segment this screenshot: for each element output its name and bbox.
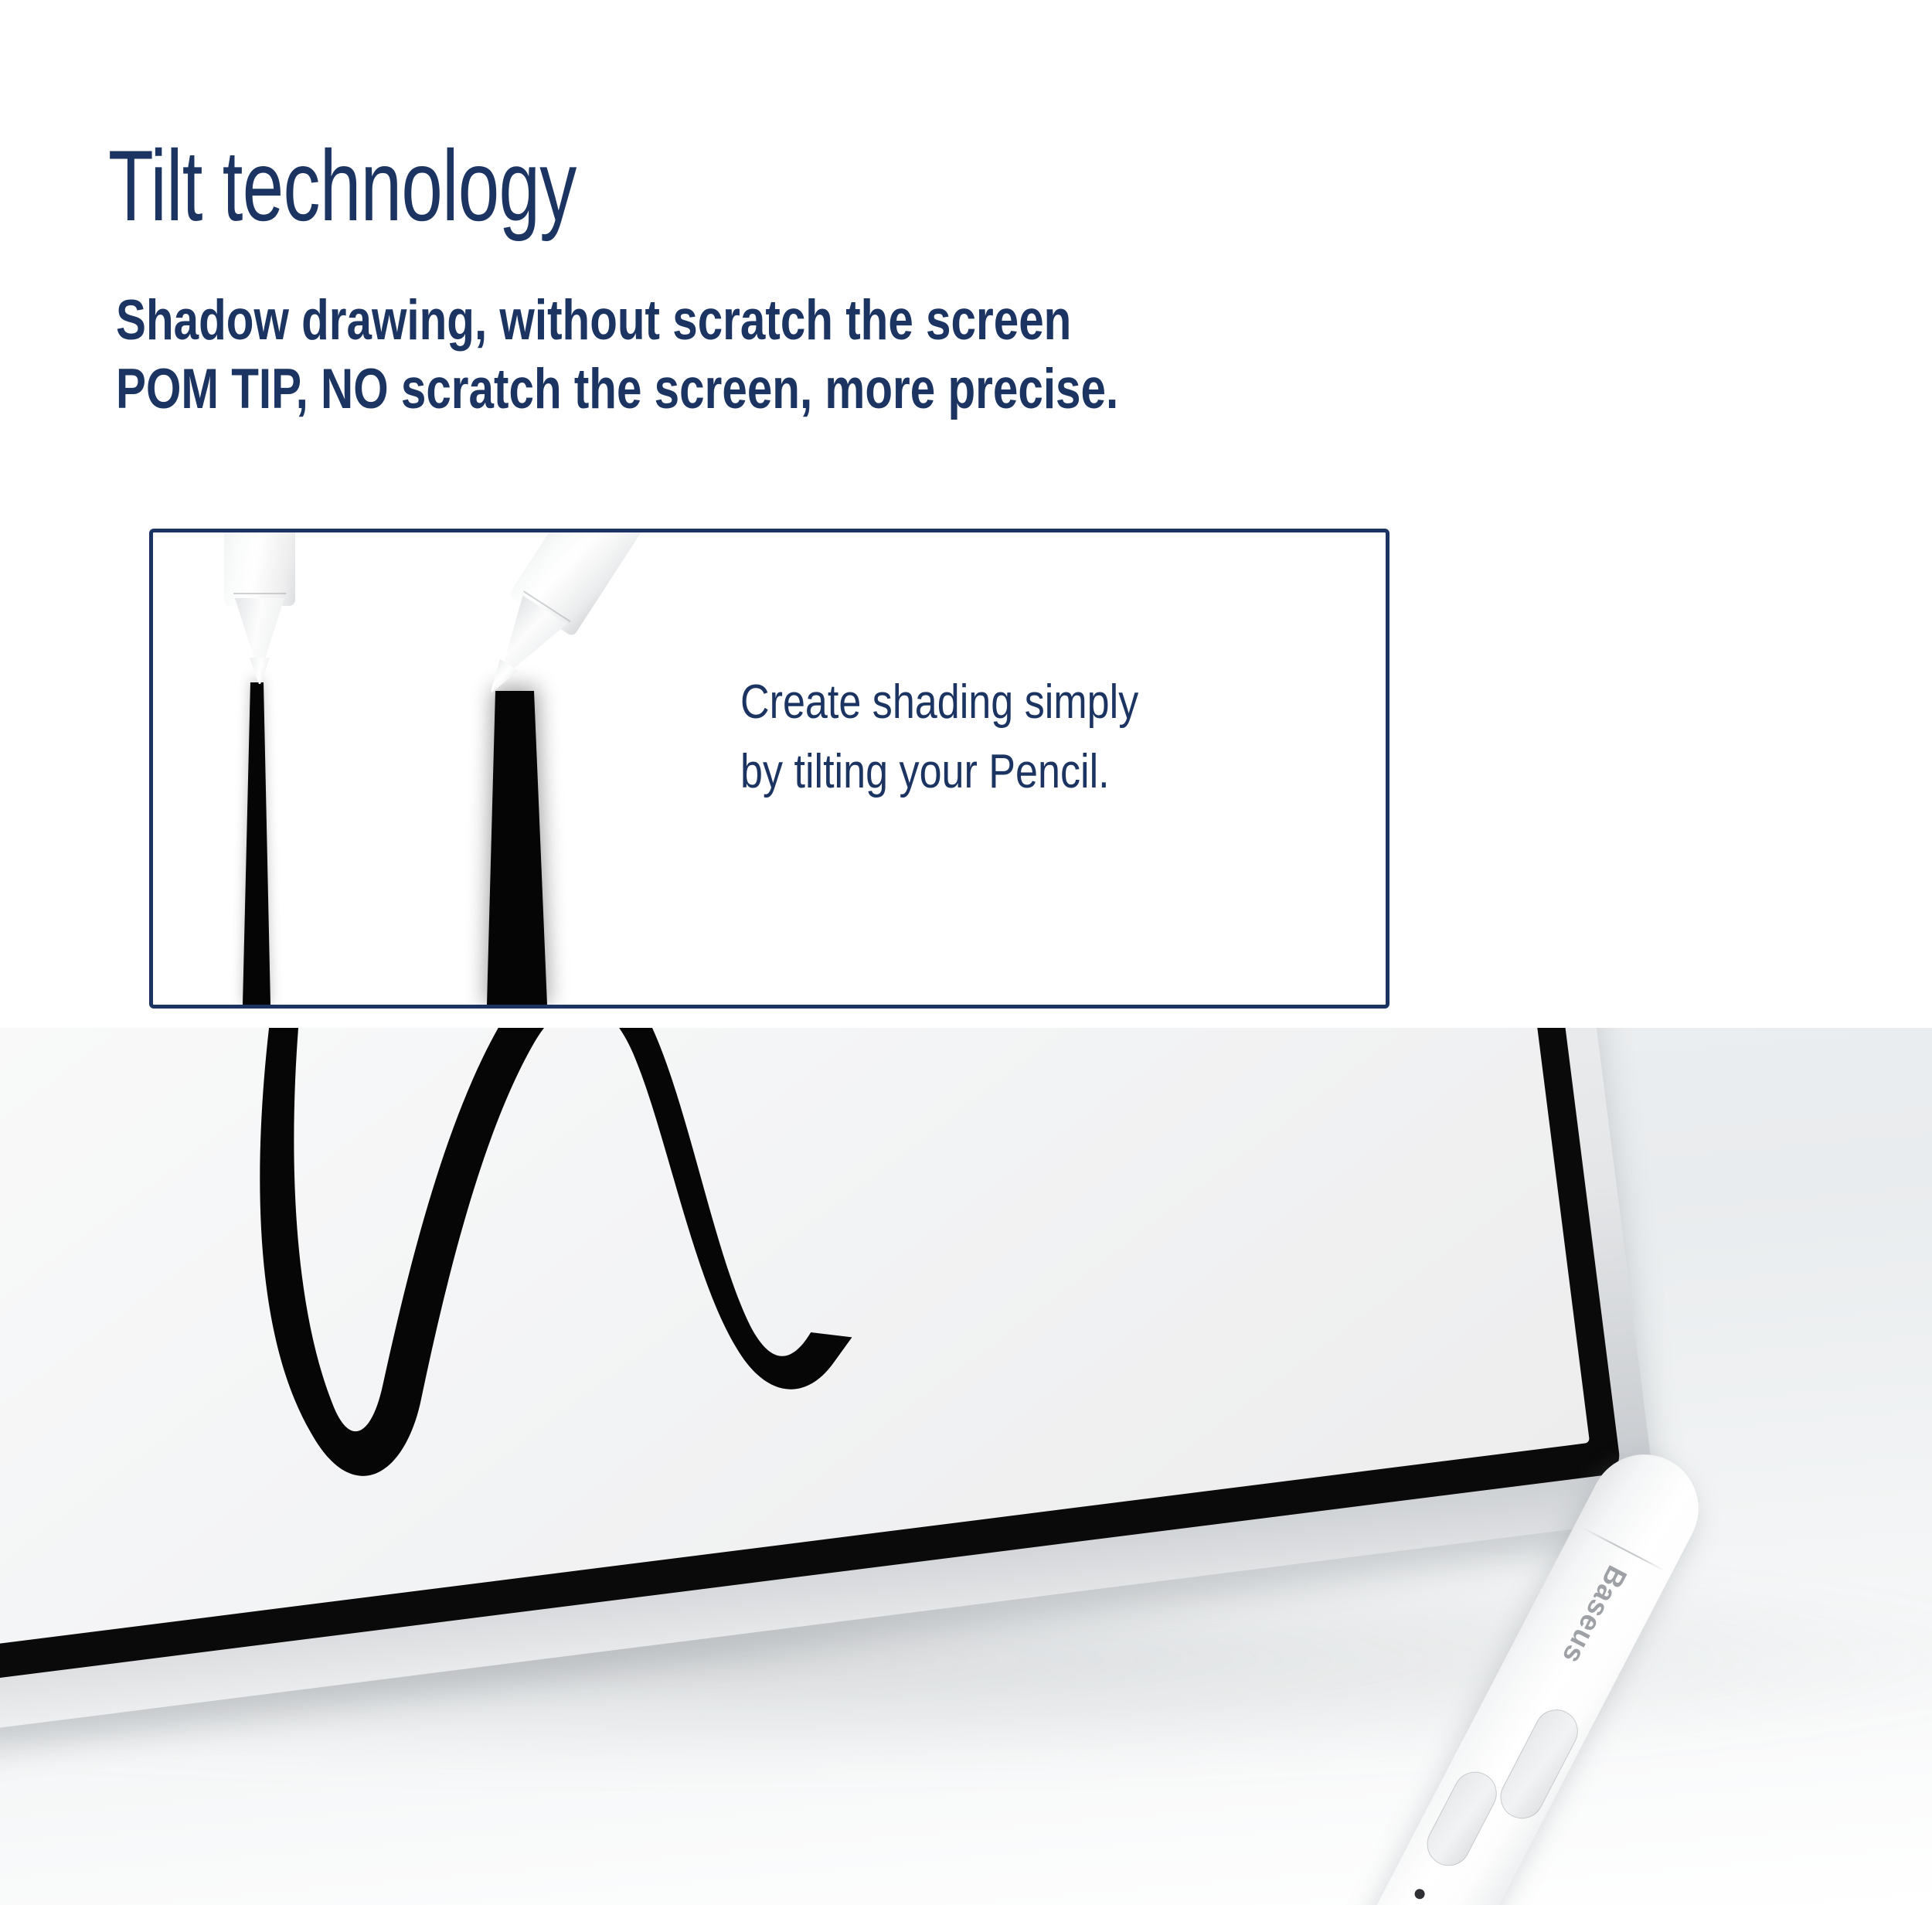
- caption-line-2: by tilting your Pencil.: [740, 737, 1138, 807]
- tilt-demo-panel: Create shading simply by tilting your Pe…: [149, 529, 1389, 1009]
- thin-stroke-group: [243, 679, 270, 1005]
- calligraphic-stroke: [231, 1028, 862, 1485]
- upright-pencil-illustration: [224, 529, 295, 695]
- tablet-scene: 2: [0, 1028, 1932, 1905]
- subtitle-line-1: Shadow drawing, without scratch the scre…: [116, 286, 1118, 355]
- caption-line-1: Create shading simply: [740, 668, 1138, 737]
- page-title: Tilt technology: [108, 135, 577, 236]
- subtitle-line-2: POM TIP, NO scratch the screen, more pre…: [116, 355, 1118, 424]
- hero-section: Tilt technology Shadow drawing, without …: [0, 0, 1932, 1028]
- shaded-stroke-group: [485, 687, 549, 1005]
- panel-caption: Create shading simply by tilting your Pe…: [740, 668, 1138, 807]
- subtitle-block: Shadow drawing, without scratch the scre…: [116, 286, 1118, 424]
